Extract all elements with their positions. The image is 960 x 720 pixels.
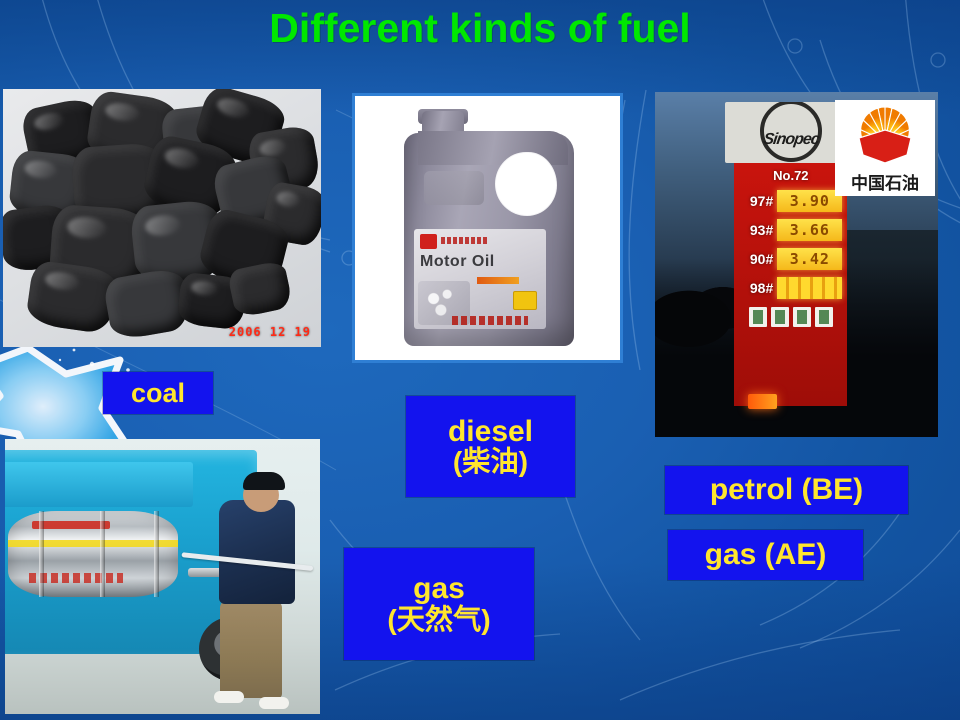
price-value: 3.90 — [777, 190, 842, 212]
petrochina-logo-icon — [841, 103, 929, 165]
pylon-price-board: No.72 97# 3.90 93# 3.66 90# 3.42 98# — [734, 163, 847, 406]
price-pylon: Sinopec No.72 97# 3.90 93# 3.66 90# 3.42… — [734, 102, 847, 406]
service-icon — [793, 307, 811, 327]
petrochina-logo: 中国石油 — [835, 100, 935, 196]
caption-coal-line1: coal — [131, 379, 185, 408]
oil-label-bar — [477, 277, 519, 284]
oil-label-chinese-text — [452, 316, 528, 325]
caption-gas-line2: (天然气) — [387, 605, 490, 635]
caption-coal: coal — [103, 372, 213, 414]
worker-torso — [219, 500, 295, 604]
petrol-station-photo: Sinopec No.72 97# 3.90 93# 3.66 90# 3.42… — [655, 92, 938, 437]
pylon-base-light — [748, 394, 777, 409]
oil-jug: Motor Oil — [404, 111, 574, 346]
cylinder-band — [154, 511, 159, 596]
service-icon — [749, 307, 767, 327]
slide-root: Different kinds of fuel 2006 12 19 — [0, 0, 960, 720]
caption-diesel-line2: (柴油) — [453, 447, 528, 477]
cylinder-band — [100, 511, 105, 596]
oil-brand-text — [441, 237, 487, 244]
coal-photo: 2006 12 19 — [3, 89, 321, 347]
price-grade: 90# — [739, 251, 777, 267]
coal-photo-date-stamp: 2006 12 19 — [229, 325, 311, 339]
oil-brand-mark — [420, 234, 437, 249]
price-grade: 98# — [739, 280, 777, 296]
price-row: 98# — [739, 275, 842, 301]
price-value: 3.42 — [777, 248, 842, 270]
caption-petrol-be: petrol (BE) — [665, 466, 908, 514]
price-row: 97# 3.90 — [739, 188, 842, 214]
cng-truck-photo — [5, 439, 320, 714]
caption-gas-ae: gas (AE) — [668, 530, 863, 580]
oil-jug-handle — [496, 153, 556, 215]
service-icon — [815, 307, 833, 327]
caption-gas-chinese: gas (天然气) — [344, 548, 534, 660]
caption-petrol-line1: petrol (BE) — [710, 474, 863, 506]
oil-jug-label: Motor Oil — [414, 229, 546, 329]
worker-shoe — [214, 691, 244, 703]
worker-cap-icon — [243, 472, 285, 490]
sinopec-logo-text: Sinopec — [762, 131, 820, 149]
cng-cylinder — [8, 511, 177, 596]
price-value — [777, 277, 842, 299]
pylon-service-icons — [734, 307, 847, 327]
caption-gas-ae-line1: gas (AE) — [705, 539, 827, 571]
cylinder-band — [39, 511, 44, 596]
motor-oil-photo: Motor Oil — [352, 93, 623, 363]
pylon-station-number: No.72 — [734, 165, 847, 185]
price-row: 90# 3.42 — [739, 246, 842, 272]
page-title: Different kinds of fuel — [0, 2, 960, 54]
cylinder-yellow-stripe — [8, 540, 177, 547]
worker-shoe — [259, 697, 289, 709]
price-value: 3.66 — [777, 219, 842, 241]
oil-label-title: Motor Oil — [420, 253, 495, 271]
price-row: 93# 3.66 — [739, 217, 842, 243]
caption-diesel: diesel (柴油) — [406, 396, 575, 497]
worker-legs — [220, 600, 282, 698]
oil-jug-emboss — [424, 171, 484, 205]
caption-gas-line1: gas — [413, 573, 465, 605]
truck-bed — [5, 462, 193, 507]
service-icon — [771, 307, 789, 327]
petrochina-logo-text: 中国石油 — [835, 169, 935, 194]
caption-diesel-line1: diesel — [448, 416, 533, 448]
price-grade: 97# — [739, 193, 777, 209]
price-grade: 93# — [739, 222, 777, 238]
oil-label-badge — [513, 291, 537, 310]
